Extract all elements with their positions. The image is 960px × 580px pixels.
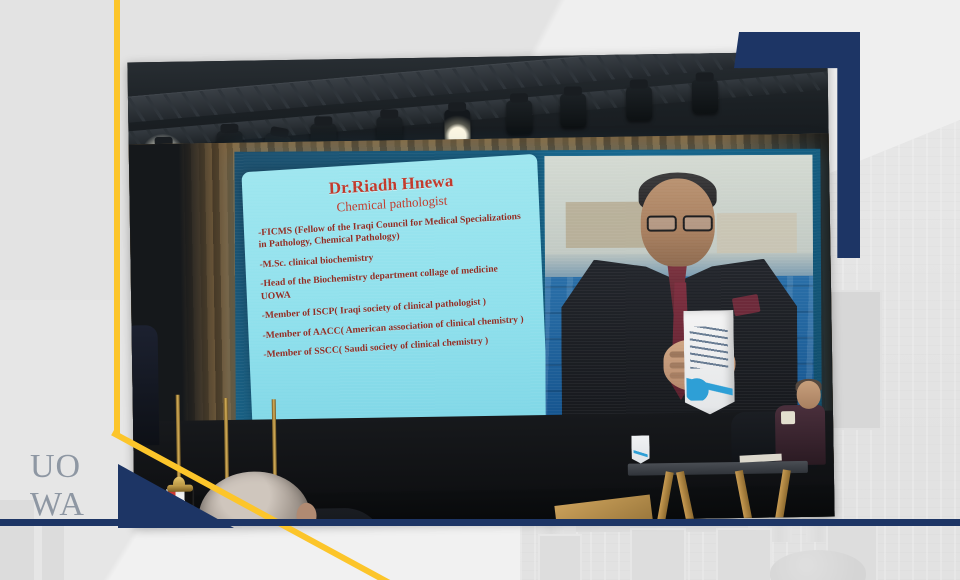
uowa-logo[interactable]: UO WA: [30, 448, 122, 530]
uowa-logo-line1: UO: [30, 448, 122, 486]
organization-banner: [683, 310, 735, 415]
page-canvas: Dr.Riadh Hnewa Chemical pathologist -FIC…: [0, 0, 960, 580]
stage-light: [692, 79, 719, 113]
uowa-logo-line2: WA: [30, 486, 122, 524]
stage-light: [626, 86, 653, 120]
led-screen: Dr.Riadh Hnewa Chemical pathologist -FIC…: [234, 149, 822, 452]
gold-stripe-vertical: [114, 0, 120, 434]
cup-icon: [781, 411, 795, 424]
conference-photo: Dr.Riadh Hnewa Chemical pathologist -FIC…: [127, 52, 834, 528]
table-legs: [646, 469, 797, 523]
standing-attendee-silhouette: [127, 325, 159, 446]
navy-horizontal-rule: [0, 519, 960, 526]
desk-flag: [631, 435, 649, 463]
stage-light: [560, 93, 587, 127]
seated-attendee: [766, 381, 825, 466]
stage-light: [506, 100, 533, 134]
